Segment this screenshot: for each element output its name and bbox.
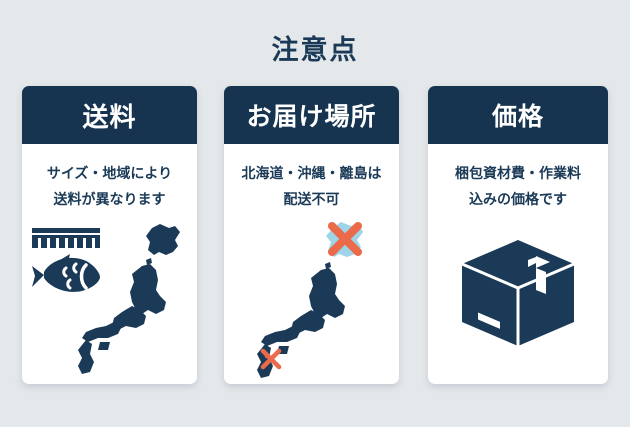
card-body-line: サイズ・地域により	[30, 162, 189, 188]
card-header-delivery-area: お届け場所	[224, 86, 399, 144]
japan-map-icon	[74, 222, 192, 382]
card-illustration-price	[428, 214, 608, 384]
card-body-shipping-fee: サイズ・地域により 送料が異なります	[22, 144, 197, 214]
card-body-line: 込みの価格です	[436, 188, 600, 214]
card-body-price: 梱包資材費・作業料 込みの価格です	[428, 144, 608, 214]
notice-card-shipping-fee: 送料 サイズ・地域により 送料が異なります	[22, 86, 197, 384]
notice-section: 注意点 送料 サイズ・地域により 送料が異なります	[0, 0, 630, 427]
card-body-line: 送料が異なります	[30, 188, 189, 214]
card-body-line: 梱包資材費・作業料	[436, 162, 600, 188]
page-title: 注意点	[0, 28, 630, 67]
card-header-shipping-fee: 送料	[22, 86, 197, 144]
card-illustration-shipping-fee	[22, 214, 197, 384]
okinawa-cross-mark-icon	[258, 346, 284, 372]
cardboard-box-icon	[458, 236, 578, 351]
notice-card-price: 価格 梱包資材費・作業料 込みの価格です	[428, 86, 608, 384]
card-body-delivery-area: 北海道・沖縄・離島は 配送不可	[224, 144, 399, 214]
card-header-price: 価格	[428, 86, 608, 144]
notice-card-delivery-area: お届け場所 北海道・沖縄・離島は 配送不可	[224, 86, 399, 384]
card-body-line: 配送不可	[232, 188, 391, 214]
hokkaido-excluded-icon	[326, 222, 363, 257]
card-illustration-delivery-area	[224, 214, 399, 384]
card-body-line: 北海道・沖縄・離島は	[232, 162, 391, 188]
